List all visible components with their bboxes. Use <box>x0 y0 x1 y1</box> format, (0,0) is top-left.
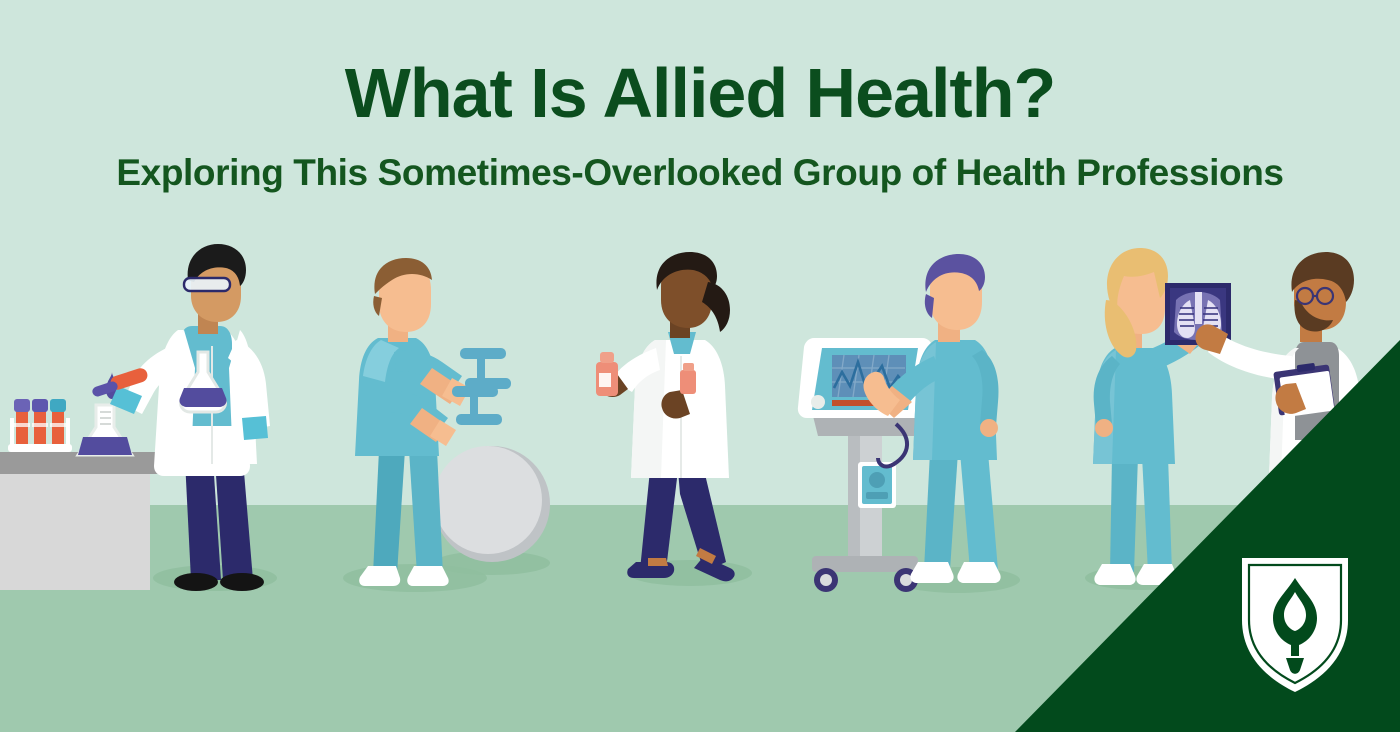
lab-tech-shoe-left <box>174 573 218 591</box>
mt-leg-front <box>960 452 998 570</box>
rad-a-shoe-left <box>1094 564 1135 585</box>
mt-shoe-back <box>910 562 953 583</box>
monitor-cart <box>812 412 920 592</box>
rad-a-leg-left <box>1110 456 1138 572</box>
pt-shoe-right <box>407 566 448 586</box>
dumbbell-upper <box>460 348 511 389</box>
pt-legs <box>373 450 405 574</box>
allied-health-banner: What Is Allied Health? Exploring This So… <box>0 0 1400 732</box>
rad-a-shoe-right <box>1136 564 1177 585</box>
lab-tech-legs <box>185 460 221 580</box>
figure-physical-therapist <box>355 258 550 586</box>
test-tube-rack <box>8 399 72 452</box>
page-subtitle: Exploring This Sometimes-Overlooked Grou… <box>0 154 1400 191</box>
heading-block: What Is Allied Health? Exploring This So… <box>0 0 1400 191</box>
safety-goggles <box>184 278 230 291</box>
exercise-ball <box>434 446 550 562</box>
figure-pharmacy-technician <box>596 252 735 581</box>
rad-a-leg-right <box>1142 456 1172 572</box>
page-title: What Is Allied Health? <box>0 58 1400 128</box>
medicine-bottle <box>596 352 618 396</box>
mt-shoe-front <box>957 562 1000 583</box>
figure-lab-technician <box>0 244 270 591</box>
ph-leg-back <box>640 470 678 570</box>
lab-bench <box>0 452 160 590</box>
lab-tech-shoe-right <box>220 573 264 591</box>
erlenmeyer-flask-on-bench <box>78 405 132 455</box>
figure-monitoring-technician <box>798 254 1001 592</box>
lab-tech-glove-right <box>242 416 268 440</box>
mt-leg-back <box>924 452 958 570</box>
rasmussen-shield-flame-logo <box>1236 552 1354 694</box>
monitor-indicator-light <box>811 395 825 409</box>
figure-radiology-pair <box>1093 248 1364 585</box>
